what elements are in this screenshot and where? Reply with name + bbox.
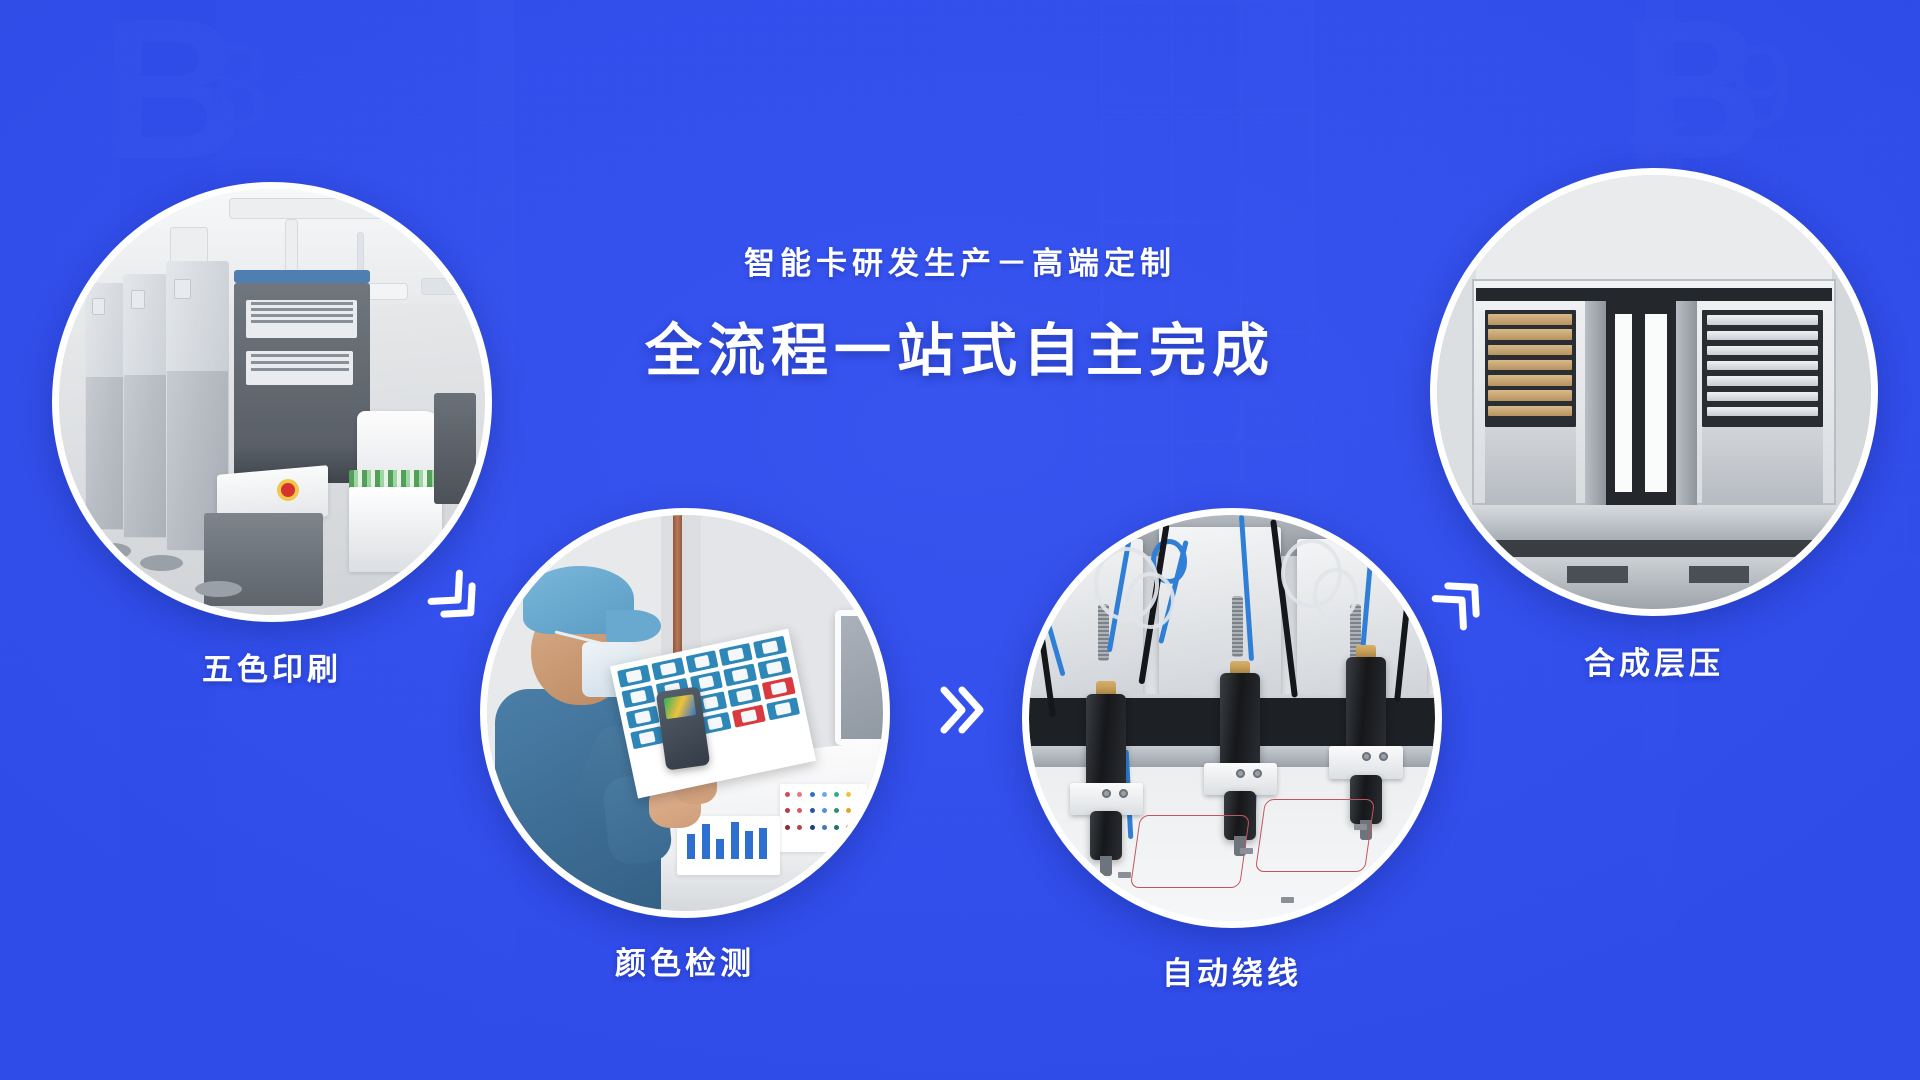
process-step-3[interactable]: 自动绕线 — [1022, 508, 1442, 928]
step-2-photo-ring — [480, 508, 890, 918]
step-2-label: 颜色检测 — [615, 938, 755, 983]
step-4-label: 合成层压 — [1584, 638, 1724, 683]
content-stage: 智能卡研发生产－高端定制 全流程一站式自主完成 — [0, 0, 1920, 1080]
step-1-photo-ring — [52, 182, 492, 622]
chevron-right-icon — [932, 680, 992, 740]
offset-printing-press-photo — [59, 189, 485, 615]
step-3-label: 自动绕线 — [1162, 948, 1302, 993]
process-step-4[interactable]: 合成层压 — [1430, 168, 1878, 616]
step-1-label: 五色印刷 — [202, 644, 342, 689]
process-step-2[interactable]: 颜色检测 — [480, 508, 890, 918]
automatic-wire-winding-machine-photo — [1029, 515, 1435, 921]
process-step-1[interactable]: 五色印刷 — [52, 182, 492, 622]
lamination-plate-stack-left — [1485, 310, 1576, 427]
step-3-photo-ring — [1022, 508, 1442, 928]
color-inspection-worker-photo — [487, 515, 883, 911]
lamination-press-photo — [1437, 175, 1871, 609]
step-4-photo-ring — [1430, 168, 1878, 616]
lamination-plate-stack-right — [1702, 310, 1824, 427]
color-swatch-book — [780, 784, 867, 851]
